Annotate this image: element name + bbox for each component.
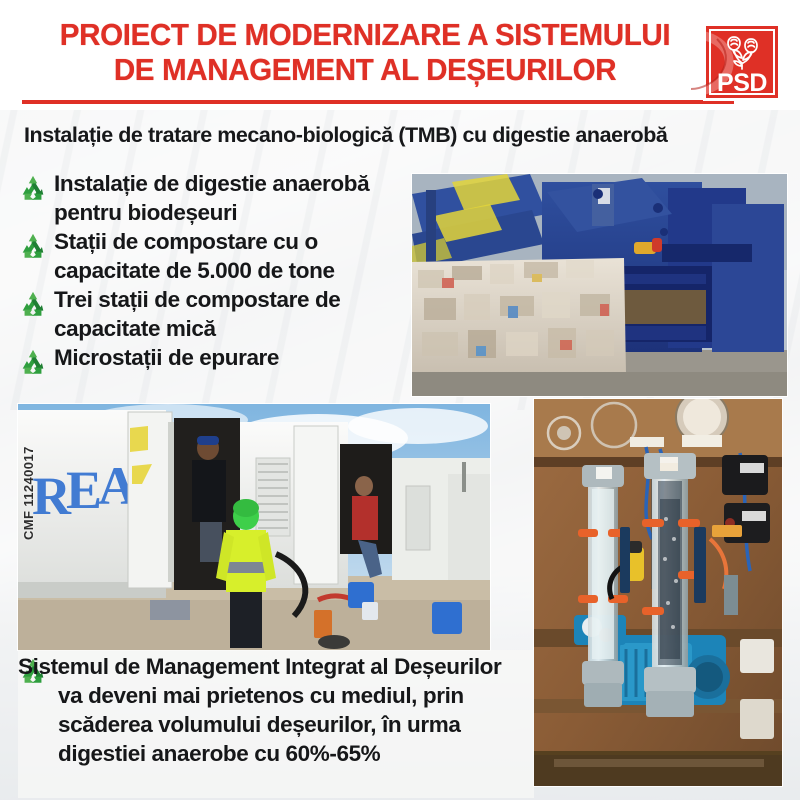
list-item: Trei stații de compostare de capacitate … — [18, 286, 418, 343]
psd-logo-text: PSD — [705, 70, 779, 96]
list-item-label: Stații de compostare cu o capacitate de … — [54, 228, 418, 285]
psd-logo: PSD — [703, 23, 781, 101]
list-item-label: Trei stații de compostare de capacitate … — [54, 286, 418, 343]
poster-title: PROIECT DE MODERNIZARE A SISTEMULUI DE M… — [0, 18, 730, 88]
bottom-note-text: Sistemul de Management Integrat al Deșeu… — [58, 652, 528, 768]
photo-containers-image: R E A T — [18, 404, 490, 650]
header-bar: PROIECT DE MODERNIZARE A SISTEMULUI DE M… — [0, 0, 800, 108]
recycle-icon — [18, 231, 48, 261]
title-line-1: PROIECT DE MODERNIZARE A SISTEMULUI — [11, 18, 719, 53]
list-item-label: Microstații de epurare — [54, 344, 279, 373]
list-item: Microstații de epurare — [18, 344, 418, 377]
recycle-icon — [18, 347, 48, 377]
rose-emblem-icon — [719, 30, 765, 70]
title-divider-rule — [22, 100, 734, 104]
svg-text:E: E — [66, 460, 102, 520]
section-subtitle: Instalație de tratare mecano-biologică (… — [24, 122, 780, 148]
photo-flowmeters-image — [534, 399, 782, 786]
image-watermark: CMF 11240017 — [21, 420, 36, 540]
recycle-icon — [18, 289, 48, 319]
photo-containers: R E A T — [18, 404, 490, 650]
poster-canvas: PROIECT DE MODERNIZARE A SISTEMULUI DE M… — [0, 0, 800, 800]
bottom-note: Sistemul de Management Integrat al Deșeu… — [18, 652, 528, 768]
photo-baler — [412, 174, 787, 396]
photo-baler-image — [412, 174, 787, 396]
list-item-label: Instalație de digestie anaerobă pentru b… — [54, 170, 418, 227]
list-item: Stații de compostare cu o capacitate de … — [18, 228, 418, 285]
list-item: Instalație de digestie anaerobă pentru b… — [18, 170, 418, 227]
recycle-icon — [18, 173, 48, 203]
feature-bullet-list: Instalație de digestie anaerobă pentru b… — [18, 170, 418, 378]
photo-flowmeters — [534, 399, 782, 786]
title-line-2: DE MANAGEMENT AL DEȘEURILOR — [11, 53, 719, 88]
